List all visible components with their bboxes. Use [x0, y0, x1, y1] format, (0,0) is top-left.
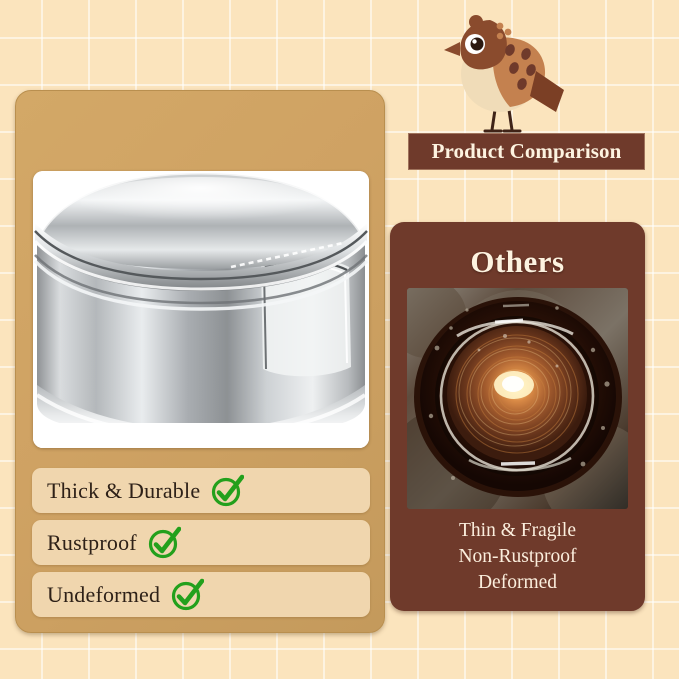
con-item: Deformed	[390, 570, 645, 596]
feature-row: Undeformed	[32, 572, 370, 617]
banner-title: Product Comparison	[432, 139, 622, 164]
green-check-circle-icon	[170, 578, 204, 612]
others-cons-list: Thin & Fragile Non-Rustproof Deformed	[390, 518, 645, 596]
con-item: Non-Rustproof	[390, 544, 645, 570]
feature-row: Rustproof	[32, 520, 370, 565]
sparrow-bird-icon	[438, 8, 568, 136]
others-card: Others	[390, 222, 645, 611]
con-item: Thin & Fragile	[390, 518, 645, 544]
feature-label: Thick & Durable	[32, 478, 200, 504]
rusty-pot-interior-photo	[407, 288, 628, 509]
feature-row: Thick & Durable	[32, 468, 370, 513]
green-check-circle-icon	[147, 526, 181, 560]
feature-label: Undeformed	[32, 582, 160, 608]
product-comparison-banner: Product Comparison	[408, 133, 645, 170]
ours-card: Ours	[15, 90, 385, 633]
green-check-circle-icon	[210, 474, 244, 508]
stainless-steel-pot-photo	[33, 171, 369, 448]
ours-feature-list: Thick & Durable Rustproof Undeformed	[32, 468, 370, 624]
feature-label: Rustproof	[32, 530, 137, 556]
others-title: Others	[390, 244, 645, 280]
